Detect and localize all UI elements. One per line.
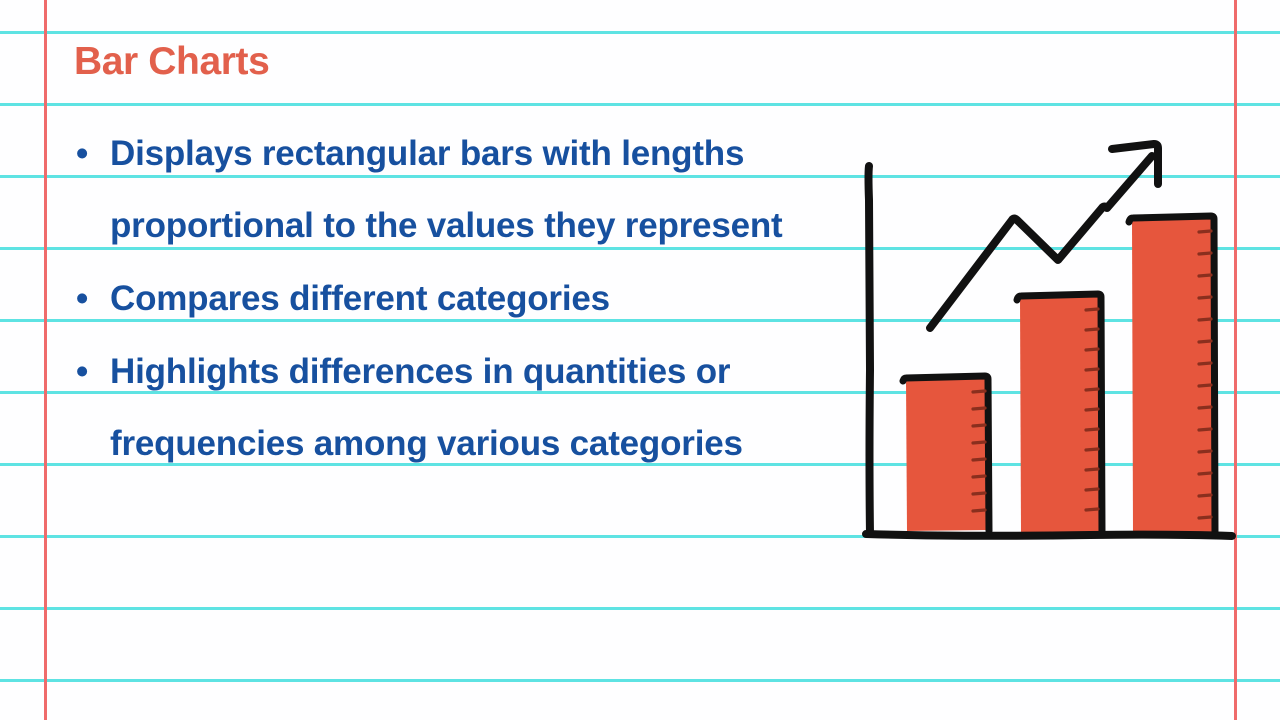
x-axis-line: [866, 534, 1232, 536]
list-item: • Highlights differences in quantities o…: [68, 336, 843, 480]
bar-chart-illustration: [840, 130, 1260, 550]
bar-2-fill: [1020, 296, 1100, 533]
list-item-label: Highlights differences in quantities or …: [110, 352, 743, 463]
bullet-dot-icon: •: [76, 336, 88, 408]
list-item: • Compares different categories: [68, 263, 843, 335]
list-item-label: Compares different categories: [110, 279, 610, 318]
bar-3-fill: [1132, 218, 1213, 535]
bar-1-fill: [906, 378, 987, 531]
bar-3: [1129, 216, 1215, 535]
bullet-dot-icon: •: [76, 263, 88, 335]
list-item-label: Displays rectangular bars with lengths p…: [110, 134, 783, 245]
slide-canvas: Bar Charts • Displays rectangular bars w…: [0, 0, 1280, 720]
text-content-column: Bar Charts • Displays rectangular bars w…: [0, 0, 860, 720]
page-title: Bar Charts: [74, 42, 269, 81]
list-item: • Displays rectangular bars with lengths…: [68, 118, 843, 262]
bar-chart-svg: [840, 130, 1260, 550]
y-axis-line: [869, 166, 871, 534]
bullet-dot-icon: •: [76, 118, 88, 190]
bar-2: [1017, 294, 1102, 533]
bar-1: [903, 376, 989, 531]
bullet-list: • Displays rectangular bars with lengths…: [68, 118, 843, 481]
